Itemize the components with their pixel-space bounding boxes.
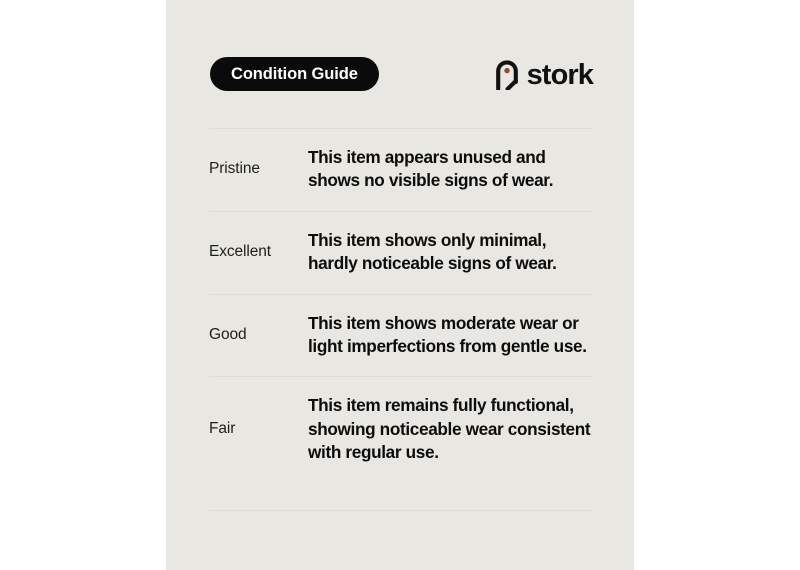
table-row: Excellent This item shows only minimal, … — [209, 212, 592, 294]
table-bottom-spacer — [209, 483, 592, 510]
condition-guide-card: Condition Guide stork Pristine This item… — [166, 0, 634, 570]
condition-label: Pristine — [209, 159, 308, 179]
condition-description: This item appears unused and shows no vi… — [308, 146, 592, 193]
row-divider — [209, 510, 592, 511]
brand-wordmark: stork — [527, 61, 593, 90]
card-header: Condition Guide stork — [210, 57, 593, 91]
screenshot-stage: Condition Guide stork Pristine This item… — [0, 0, 800, 570]
table-row: Fair This item remains fully functional,… — [209, 377, 592, 482]
condition-label: Fair — [209, 419, 308, 439]
condition-label: Good — [209, 325, 308, 345]
condition-description: This item remains fully functional, show… — [308, 394, 592, 464]
condition-description: This item shows only minimal, hardly not… — [308, 229, 592, 276]
condition-label: Excellent — [209, 242, 308, 262]
brand-lockup[interactable]: stork — [494, 57, 593, 91]
condition-table: Pristine This item appears unused and sh… — [209, 128, 592, 511]
condition-description: This item shows moderate wear or light i… — [308, 312, 592, 359]
table-row: Good This item shows moderate wear or li… — [209, 295, 592, 377]
table-row: Pristine This item appears unused and sh… — [209, 129, 592, 211]
stork-logo-icon — [494, 58, 520, 90]
condition-guide-badge[interactable]: Condition Guide — [210, 57, 379, 91]
